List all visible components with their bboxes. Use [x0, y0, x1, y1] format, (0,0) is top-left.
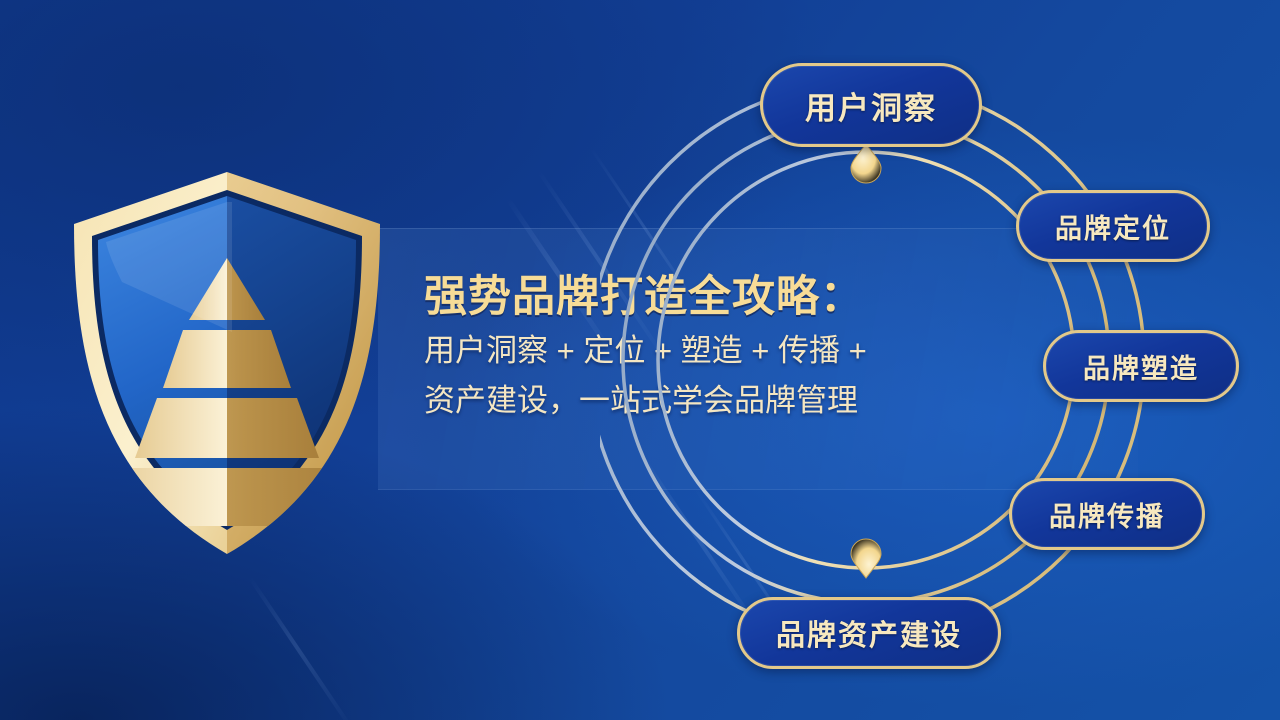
step-pill-brand-spread[interactable]: 品牌传播	[1009, 478, 1205, 550]
shield-pyramid-logo	[62, 162, 392, 562]
top-node	[851, 144, 881, 183]
step-pill-brand-position[interactable]: 品牌定位	[1016, 190, 1210, 262]
poster-canvas: 强势品牌打造全攻略： 用户洞察 + 定位 + 塑造 + 传播 + 资产建设，一站…	[0, 0, 1280, 720]
step-pill-brand-shape[interactable]: 品牌塑造	[1043, 330, 1239, 402]
bottom-node	[851, 539, 881, 578]
step-pill-brand-asset[interactable]: 品牌资产建设	[737, 597, 1001, 669]
step-pill-user-insight[interactable]: 用户洞察	[760, 63, 982, 147]
